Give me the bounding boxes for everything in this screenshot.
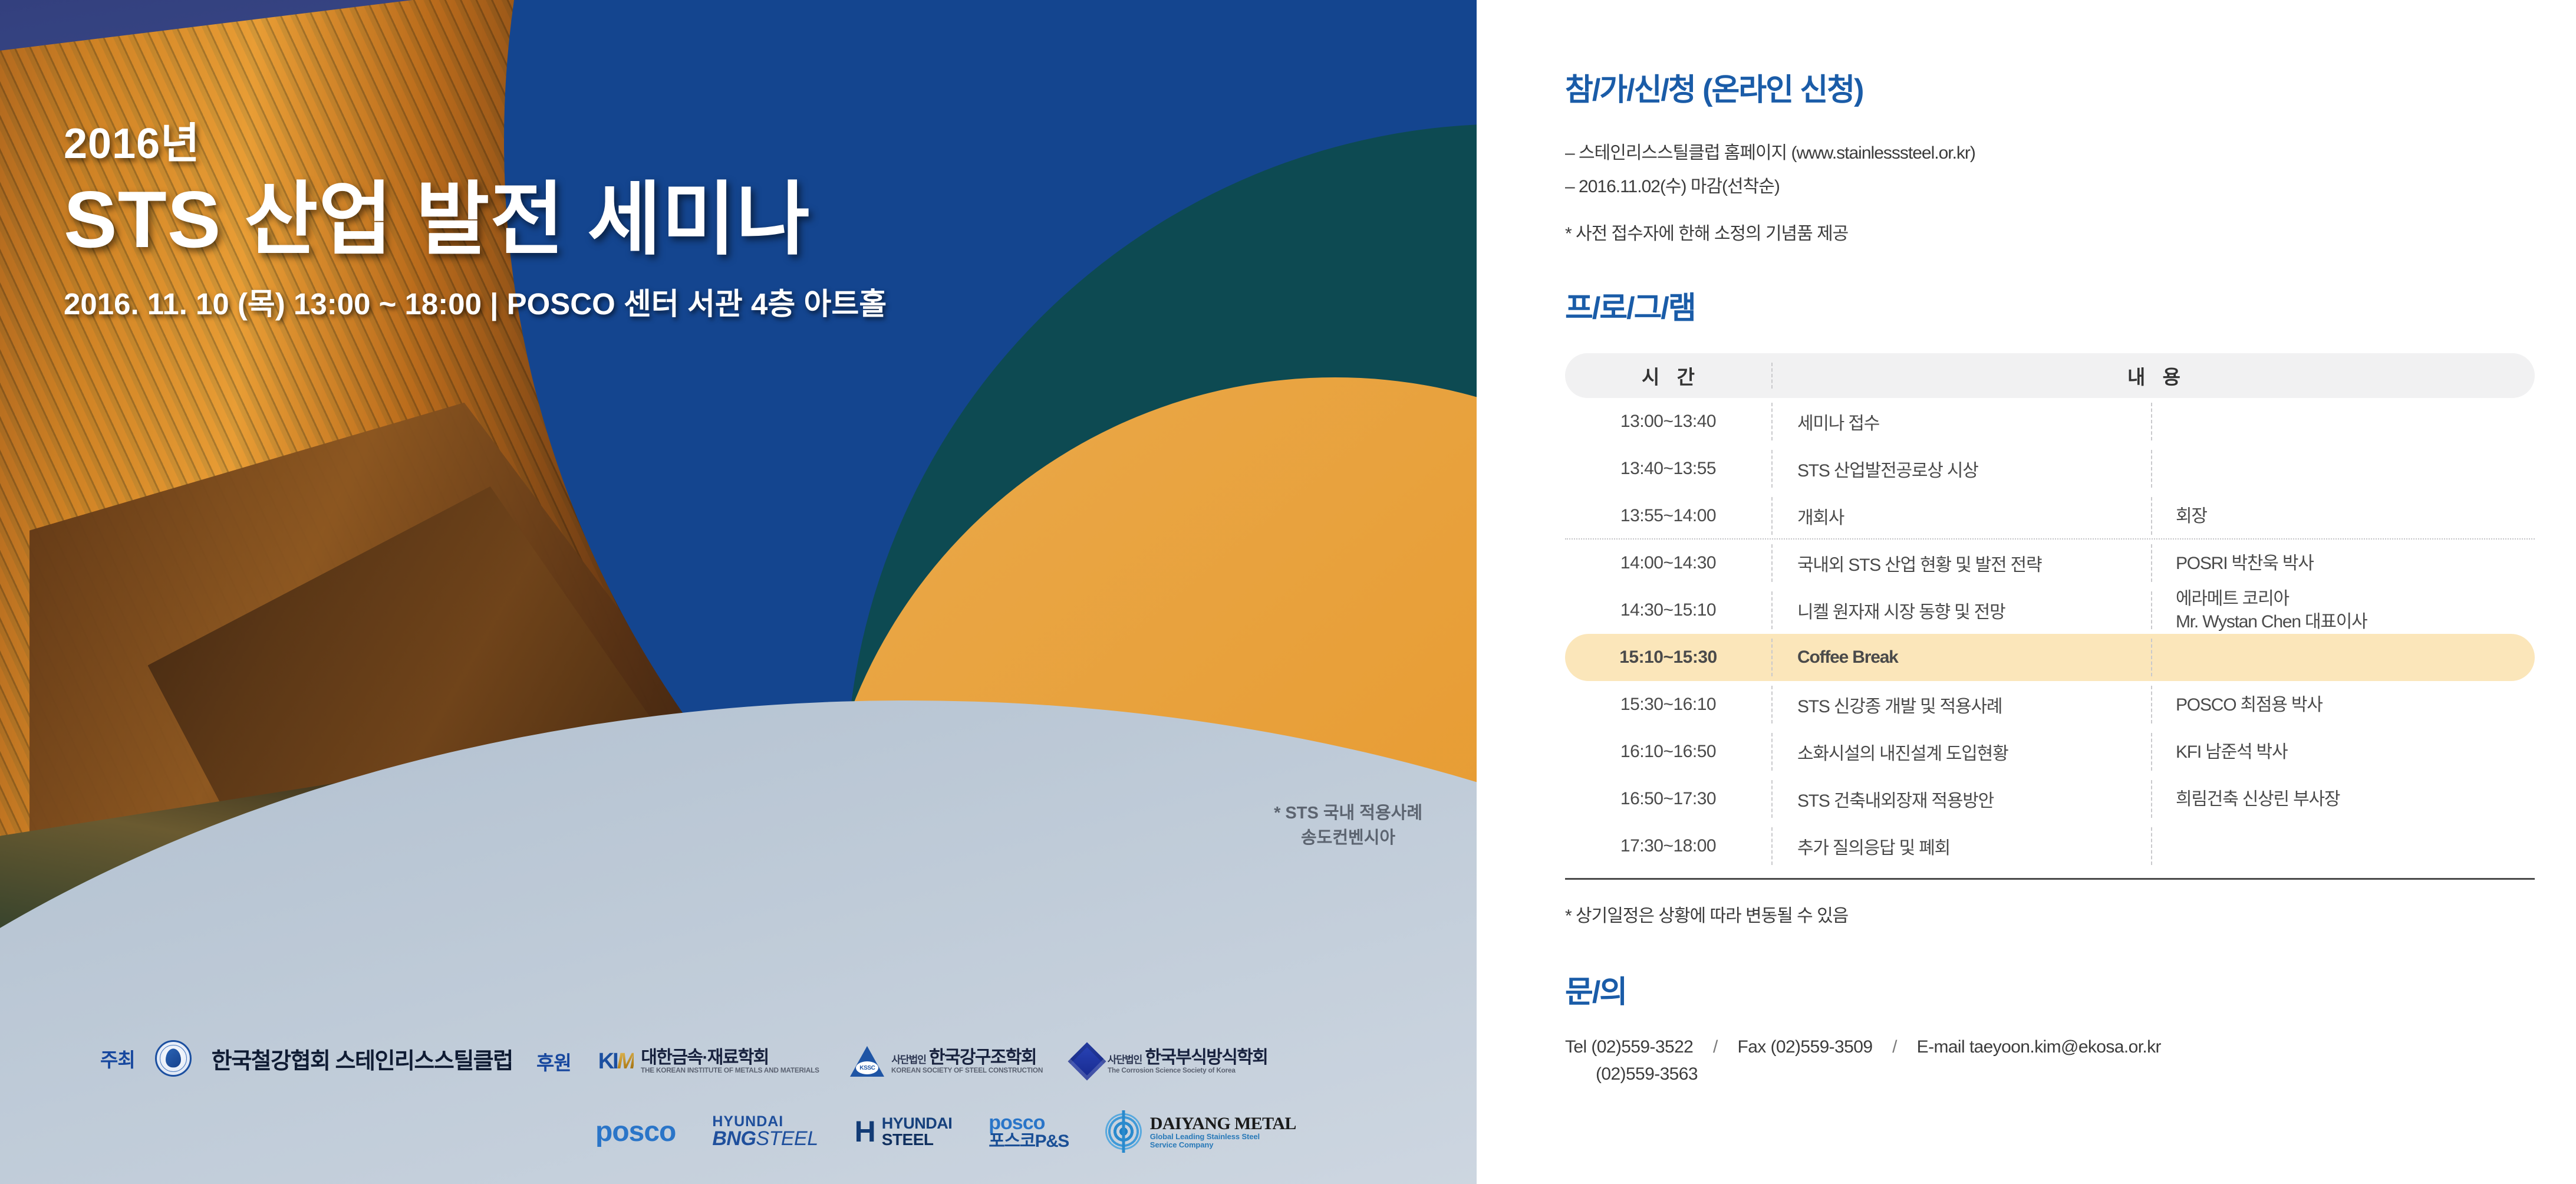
row-speaker-line-1: 회장 [2176,507,2207,526]
table-row: 15:10~15:30Coffee Break [1565,634,2535,681]
hero-subtitle: 2016. 11. 10 (목) 13:00 ~ 18:00 | POSCO 센… [64,279,887,323]
hyundai-h-icon: H [855,1119,874,1145]
table-row: 14:30~15:10니켈 원자재 시장 동향 및 전망에라메트 코리아Mr. … [1565,587,2535,634]
kssc-prefix: 사단법인 [891,1054,926,1065]
kim-name-en: THE KOREAN INSTITUTE OF METALS AND MATER… [641,1067,819,1074]
host-organization-name: 한국철강협회 스테인리스스틸클럽 [212,1042,513,1075]
photo-credit-line-1: * STS 국내 적용사례 [1274,801,1422,825]
photo-credit-line-2: 송도컨벤시아 [1274,825,1422,850]
hyundai-steel-line2: STEEL [882,1132,953,1148]
program-table-body: 13:00~13:40세미나 접수13:40~13:55STS 산업발전공로상 … [1565,398,2535,870]
cssk-name-main: 한국부식방식학회 [1145,1048,1267,1067]
kssc-triangle-icon [850,1046,884,1077]
row-content: 세미나 접수 [1773,409,2151,435]
poster-root: 2016년 STS 산업 발전 세미나 2016. 11. 10 (목) 13:… [0,0,2576,1184]
application-note: * 사전 접수자에 한해 소정의 기념품 제공 [1565,219,2535,245]
steel-association-seal-icon [155,1040,192,1077]
row-divider-speaker [2151,450,2152,488]
column-header-content: 내 용 [1773,361,2535,390]
row-content: 니켈 원자재 시장 동향 및 전망 [1773,597,2151,623]
page-title: STS 산업 발전 세미나 [64,177,887,262]
sponsor-logo-kim: KIM 대한금속·재료학회 THE KOREAN INSTITUTE OF ME… [598,1048,823,1074]
row-speaker: 에라메트 코리아Mr. Wystan Chen 대표이사 [2152,587,2535,633]
row-speaker: POSRI 박찬욱 박사 [2152,552,2535,575]
column-header-time: 시 간 [1565,361,1771,390]
table-row: 13:40~13:55STS 산업발전공로상 시상 [1565,445,2535,492]
program-section: 프/로/그/램 시 간 내 용 13:00~13:40세미나 접수13:40~1… [1565,283,2535,927]
row-time: 13:40~13:55 [1565,459,1771,479]
cssk-prefix: 사단법인 [1108,1054,1142,1065]
table-bottom-rule [1565,878,2535,880]
photo-credit: * STS 국내 적용사례 송도컨벤시아 [1274,801,1422,850]
contact-separator-1: / [1713,1037,1718,1057]
program-table: 시 간 내 용 13:00~13:40세미나 접수13:40~13:55STS … [1565,353,2535,927]
table-row: 13:55~14:00개회사회장 [1565,492,2535,540]
tel-value: (02)559-3522 [1591,1037,1693,1057]
kssc-name-en: KOREAN SOCIETY OF STEEL CONSTRUCTION [891,1067,1043,1074]
contact-separator-2: / [1892,1037,1897,1057]
row-speaker-line-1: POSCO 최점용 박사 [2176,695,2323,715]
fax-value: (02)559-3509 [1770,1037,1872,1057]
row-speaker: 회장 [2152,505,2535,528]
row-content: Coffee Break [1773,647,2151,667]
company-logo-posco: posco [595,1116,676,1148]
program-heading: 프/로/그/램 [1565,283,2535,327]
row-speaker-line-1: 에라메트 코리아 [2176,589,2289,609]
row-divider-speaker [2151,827,2152,865]
row-content: STS 신강종 개발 및 적용사례 [1773,692,2151,718]
posco-wordmark: posco [595,1116,676,1148]
sponsor-footer: 주최 한국철강협회 스테인리스스틸클럽 후원 KIM 대한금속·재료학회 THE… [0,989,1477,1184]
row-time: 15:10~15:30 [1565,647,1771,667]
daiyang-tagline-2: Service Company [1150,1141,1296,1149]
contact-details: Tel (02)559-3522 / Fax (02)559-3509 / E-… [1565,1037,2535,1084]
row-time: 16:10~16:50 [1565,742,1771,762]
row-divider-speaker [2151,403,2152,440]
host-label: 주최 [100,1044,135,1073]
table-row: 17:30~18:00추가 질의응답 및 폐회 [1565,823,2535,870]
daiyang-tagline-1: Global Leading Stainless Steel [1150,1133,1296,1141]
table-row: 13:00~13:40세미나 접수 [1565,398,2535,445]
hero-text-block: 2016년 STS 산업 발전 세미나 2016. 11. 10 (목) 13:… [64,123,887,323]
row-content: STS 건축내외장재 적용방안 [1773,786,2151,812]
daiyang-name: DAIYANG METAL [1150,1114,1296,1133]
tel-label: Tel [1565,1037,1587,1057]
row-time: 13:00~13:40 [1565,412,1771,432]
email-label: E-mail [1917,1037,1965,1057]
table-row: 16:10~16:50소화시설의 내진설계 도입현황KFI 남준석 박사 [1565,728,2535,775]
row-time: 17:30~18:00 [1565,836,1771,856]
row-time: 13:55~14:00 [1565,506,1771,526]
pns-korean-text: 포스코P&S [989,1133,1069,1151]
application-line-deadline: – 2016.11.02(수) 마감(선착순) [1565,170,2535,203]
info-panel: 참/가/신/청 (온라인 신청) – 스테인리스스틸클럽 홈페이지 (www.s… [1477,0,2576,1184]
sponsor-logo-kssc: 사단법인한국강구조학회 KOREAN SOCIETY OF STEEL CONS… [850,1046,1046,1077]
row-content: 국내외 STS 산업 현황 및 발전 전략 [1773,550,2151,576]
hyundai-steel-line1: HYUNDAI [882,1116,953,1132]
pns-posco-text: posco [989,1113,1069,1133]
row-content: 개회사 [1773,503,2151,529]
cssk-name-kr: 사단법인한국부식방식학회 [1108,1048,1268,1067]
company-logo-posco-pns: posco 포스코P&S [989,1113,1069,1151]
row-speaker: KFI 남준석 박사 [2152,741,2535,764]
application-section: 참/가/신/청 (온라인 신청) – 스테인리스스틸클럽 홈페이지 (www.s… [1565,65,2535,245]
row-speaker-line-2: Mr. Wystan Chen 대표이사 [2176,610,2535,633]
row-content: STS 산업발전공로상 시상 [1773,456,2151,482]
table-row: 15:30~16:10STS 신강종 개발 및 적용사례POSCO 최점용 박사 [1565,681,2535,728]
daiyang-target-icon [1105,1113,1142,1150]
cssk-diamond-icon [1073,1048,1101,1075]
bng-steel-text: BNGSTEEL [712,1129,818,1149]
row-divider-speaker [2151,639,2152,676]
kim-logo-icon: KIM [598,1049,634,1074]
sponsor-label: 후원 [536,1047,571,1076]
sponsor-row: 후원 KIM 대한금속·재료학회 THE KOREAN INSTITUTE OF… [536,1046,1267,1077]
company-logo-hyundai-steel: H HYUNDAI STEEL [855,1116,953,1148]
row-time: 15:30~16:10 [1565,695,1771,715]
row-speaker-line-1: POSRI 박찬욱 박사 [2176,554,2314,573]
host-row: 주최 한국철강협회 스테인리스스틸클럽 [100,1040,513,1077]
kssc-name-kr: 사단법인한국강구조학회 [891,1048,1046,1067]
row-speaker: 희림건축 신상린 부사장 [2152,788,2535,811]
row-speaker: POSCO 최점용 박사 [2152,693,2535,716]
application-heading: 참/가/신/청 (온라인 신청) [1565,65,2535,109]
hero-year: 2016년 [64,123,887,165]
hero-panel: 2016년 STS 산업 발전 세미나 2016. 11. 10 (목) 13:… [0,0,1477,1184]
email-value[interactable]: taeyoon.kim@ekosa.or.kr [1969,1037,2161,1057]
row-time: 16:50~17:30 [1565,789,1771,809]
row-speaker-line-1: 희림건축 신상린 부사장 [2176,790,2340,809]
sponsor-logo-cssk: 사단법인한국부식방식학회 The Corrosion Science Socie… [1073,1048,1268,1075]
row-speaker-line-1: KFI 남준석 박사 [2176,742,2287,762]
cssk-name-en: The Corrosion Science Society of Korea [1108,1067,1264,1074]
kim-name-kr: 대한금속·재료학회 [641,1048,823,1067]
row-content: 소화시설의 내진설계 도입현황 [1773,739,2151,765]
fax-label: Fax [1738,1037,1766,1057]
contact-heading: 문/의 [1565,967,2535,1011]
program-table-header: 시 간 내 용 [1565,353,2535,398]
application-line-homepage: – 스테인리스스틸클럽 홈페이지 (www.stainlesssteel.or.… [1565,136,2535,170]
row-time: 14:30~15:10 [1565,600,1771,620]
contact-section: 문/의 Tel (02)559-3522 / Fax (02)559-3509 … [1565,967,2535,1084]
row-content: 추가 질의응답 및 폐회 [1773,833,2151,859]
company-logo-daiyang-metal: DAIYANG METAL Global Leading Stainless S… [1105,1113,1296,1150]
row-time: 14:00~14:30 [1565,553,1771,573]
program-note: * 상기일정은 상황에 따라 변동될 수 있음 [1565,901,2535,927]
company-logo-row: posco HYUNDAI BNGSTEEL H HYUNDAI STEEL [595,1113,1296,1151]
kssc-name-main: 한국강구조학회 [929,1048,1036,1067]
application-lines: – 스테인리스스틸클럽 홈페이지 (www.stainlesssteel.or.… [1565,136,2535,203]
contact-line-primary: Tel (02)559-3522 / Fax (02)559-3509 / E-… [1565,1037,2535,1057]
table-row: 16:50~17:30STS 건축내외장재 적용방안희림건축 신상린 부사장 [1565,775,2535,823]
table-row: 14:00~14:30국내외 STS 산업 현황 및 발전 전략POSRI 박찬… [1565,540,2535,587]
tel-secondary-value: (02)559-3563 [1596,1064,2535,1084]
company-logo-bng-steel: HYUNDAI BNGSTEEL [712,1114,818,1149]
